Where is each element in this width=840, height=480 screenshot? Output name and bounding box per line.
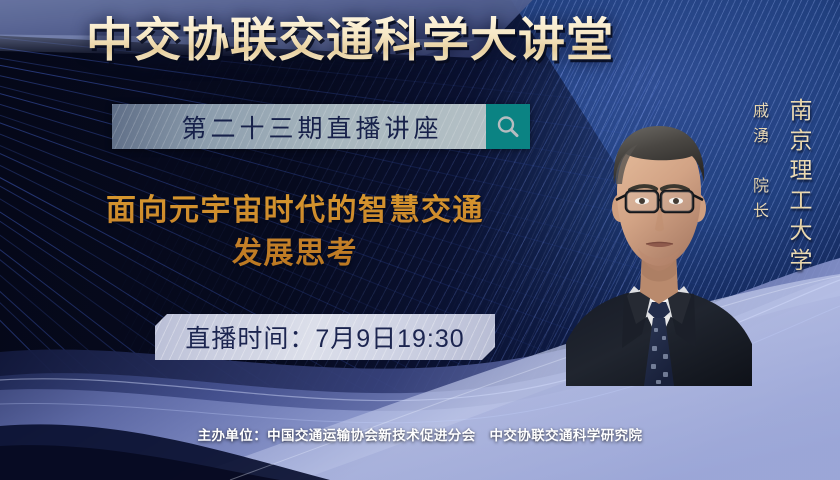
live-time-badge: 直播时间：7月9日19:30 (155, 314, 495, 360)
organizer-footer: 主办单位：中国交通运输协会新技术促进分会 中交协联交通科学研究院 (0, 424, 840, 444)
speaker-organization: 南京理工大学 (776, 98, 816, 278)
session-label: 第二十三期直播讲座 (155, 109, 442, 145)
topic-line-2: 发展思考 (40, 233, 550, 276)
speaker-portrait (566, 96, 752, 386)
page-title: 中交协联交通科学大讲堂 (0, 16, 700, 63)
live-lecture-poster: 中交协联交通科学大讲堂 第二十三期直播讲座 面向元宇宙时代的智慧交通 发展思考 … (0, 0, 840, 480)
session-bar-body: 第二十三期直播讲座 (112, 104, 486, 149)
live-time-label: 直播时间：7月9日19:30 (185, 319, 464, 355)
topic-title: 面向元宇宙时代的智慧交通 发展思考 (40, 190, 550, 275)
session-bar: 第二十三期直播讲座 (112, 104, 530, 149)
search-icon[interactable] (486, 104, 530, 149)
speaker-name-title: 戚湧 院长 (742, 102, 770, 227)
topic-line-1: 面向元宇宙时代的智慧交通 (40, 190, 550, 233)
